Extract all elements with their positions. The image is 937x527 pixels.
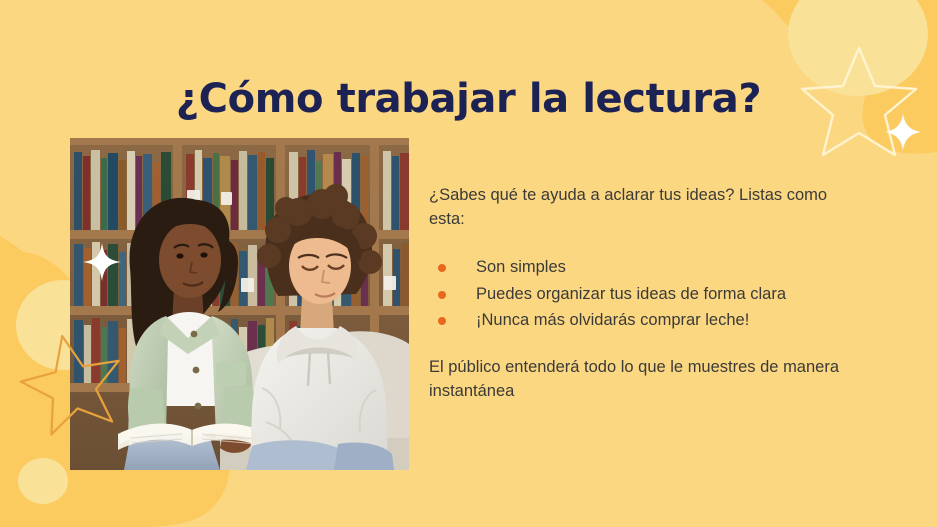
list-item-label: ¡Nunca más olvidarás comprar leche! [476, 311, 749, 329]
content-column: ¿Sabes qué te ayuda a aclarar tus ideas?… [429, 184, 861, 404]
slide: ¿Cómo trabajar la lectura? ¿Sabes qué te… [0, 0, 937, 527]
bullet-dot-icon [438, 317, 446, 325]
intro-paragraph: ¿Sabes qué te ayuda a aclarar tus ideas?… [429, 184, 861, 232]
blob-bottom-left-shape-2 [0, 236, 53, 527]
list-item: ¡Nunca más olvidarás comprar leche! [429, 307, 861, 334]
bullet-dot-icon [438, 291, 446, 299]
circle-small-bottom-left-shape [18, 458, 68, 504]
page-title: ¿Cómo trabajar la lectura? [0, 77, 937, 121]
list-item: Puedes organizar tus ideas de forma clar… [429, 281, 861, 308]
list-item-label: Puedes organizar tus ideas de forma clar… [476, 285, 786, 303]
blob-top-right-shape [762, 0, 937, 65]
list-item: Son simples [429, 254, 861, 281]
bullet-list: Son simples Puedes organizar tus ideas d… [429, 254, 861, 334]
list-item-label: Son simples [476, 258, 566, 276]
bullet-dot-icon [438, 264, 446, 272]
outro-paragraph: El público entenderá todo lo que le mues… [429, 356, 861, 404]
reading-photo [70, 138, 409, 470]
